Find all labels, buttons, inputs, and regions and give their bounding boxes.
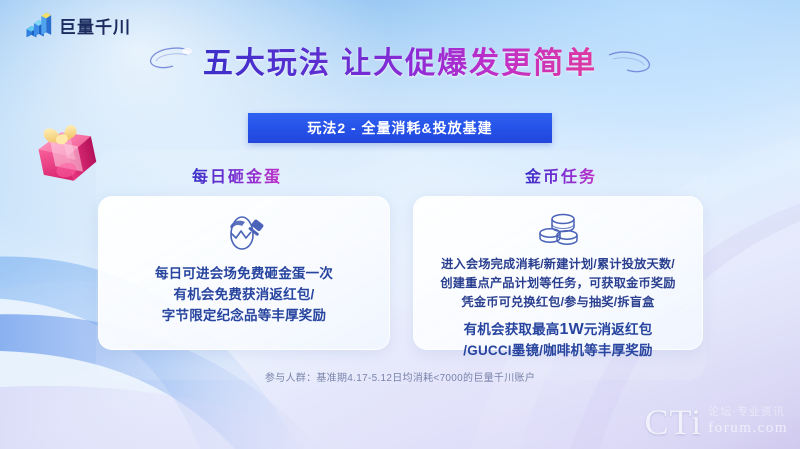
card-right-highlight-2: /GUCCI墨镜/咖啡机等丰厚奖励 bbox=[422, 340, 694, 361]
card-daily-golden-egg: 每日可进会场免费砸金蛋一次 有机会免费获消返红包/ 字节限定纪念品等丰厚奖励 bbox=[98, 196, 390, 350]
stacked-coins-icon bbox=[535, 211, 581, 247]
card-left-line-2: 有机会免费获消返红包/ bbox=[111, 284, 377, 305]
card-right-highlight-1: 有机会获取最高1W元消返红包 bbox=[422, 319, 694, 340]
highlight-suffix: 元消返红包 bbox=[584, 322, 653, 337]
card-right-line-1: 进入会场完成消耗/新建计划/累计投放天数/ bbox=[422, 255, 694, 274]
bar-chart-logo-icon bbox=[24, 12, 52, 38]
headline-row: 五大玩法 让大促爆发更简单 bbox=[0, 38, 800, 82]
card-left-body: 每日可进会场免费砸金蛋一次 有机会免费获消返红包/ 字节限定纪念品等丰厚奖励 bbox=[99, 263, 389, 326]
brand-logo: 巨量千川 bbox=[24, 12, 131, 38]
card-right-spacer bbox=[422, 312, 694, 319]
highlight-amount: 1W bbox=[560, 321, 584, 338]
slide-canvas: 巨量千川 五大玩法 让大促爆发更简单 bbox=[0, 0, 800, 449]
page-title: 五大玩法 让大促爆发更简单 bbox=[203, 38, 597, 82]
card-right-line-3: 凭金币可兑换红包/参与抽奖/拆盲盒 bbox=[422, 293, 694, 312]
card-right-line-2: 创建重点产品计划等任务，可获取金币奖励 bbox=[422, 274, 694, 293]
section-banner: 玩法2 - 全量消耗&投放基建 bbox=[248, 113, 552, 143]
column-title-left: 每日砸金蛋 bbox=[192, 163, 282, 187]
swoosh-left-icon bbox=[147, 45, 193, 75]
brand-logo-text: 巨量千川 bbox=[59, 13, 131, 38]
footnote-text: 参与人群：基准期4.17-5.12日均消耗<7000的巨量千川账户 bbox=[0, 369, 800, 384]
card-left-line-3: 字节限定纪念品等丰厚奖励 bbox=[111, 305, 377, 326]
card-left-line-1: 每日可进会场免费砸金蛋一次 bbox=[111, 263, 377, 284]
gift-box-icon bbox=[22, 108, 108, 194]
cracked-egg-hammer-icon bbox=[218, 213, 270, 253]
highlight-prefix: 有机会获取最高 bbox=[464, 322, 560, 337]
column-title-right: 金币任务 bbox=[525, 163, 597, 187]
section-banner-text: 玩法2 - 全量消耗&投放基建 bbox=[307, 118, 492, 138]
card-right-body: 进入会场完成消耗/新建计划/累计投放天数/ 创建重点产品计划等任务，可获取金币奖… bbox=[414, 255, 702, 361]
card-coin-task: 进入会场完成消耗/新建计划/累计投放天数/ 创建重点产品计划等任务，可获取金币奖… bbox=[413, 196, 703, 350]
swoosh-right-icon bbox=[607, 45, 653, 75]
